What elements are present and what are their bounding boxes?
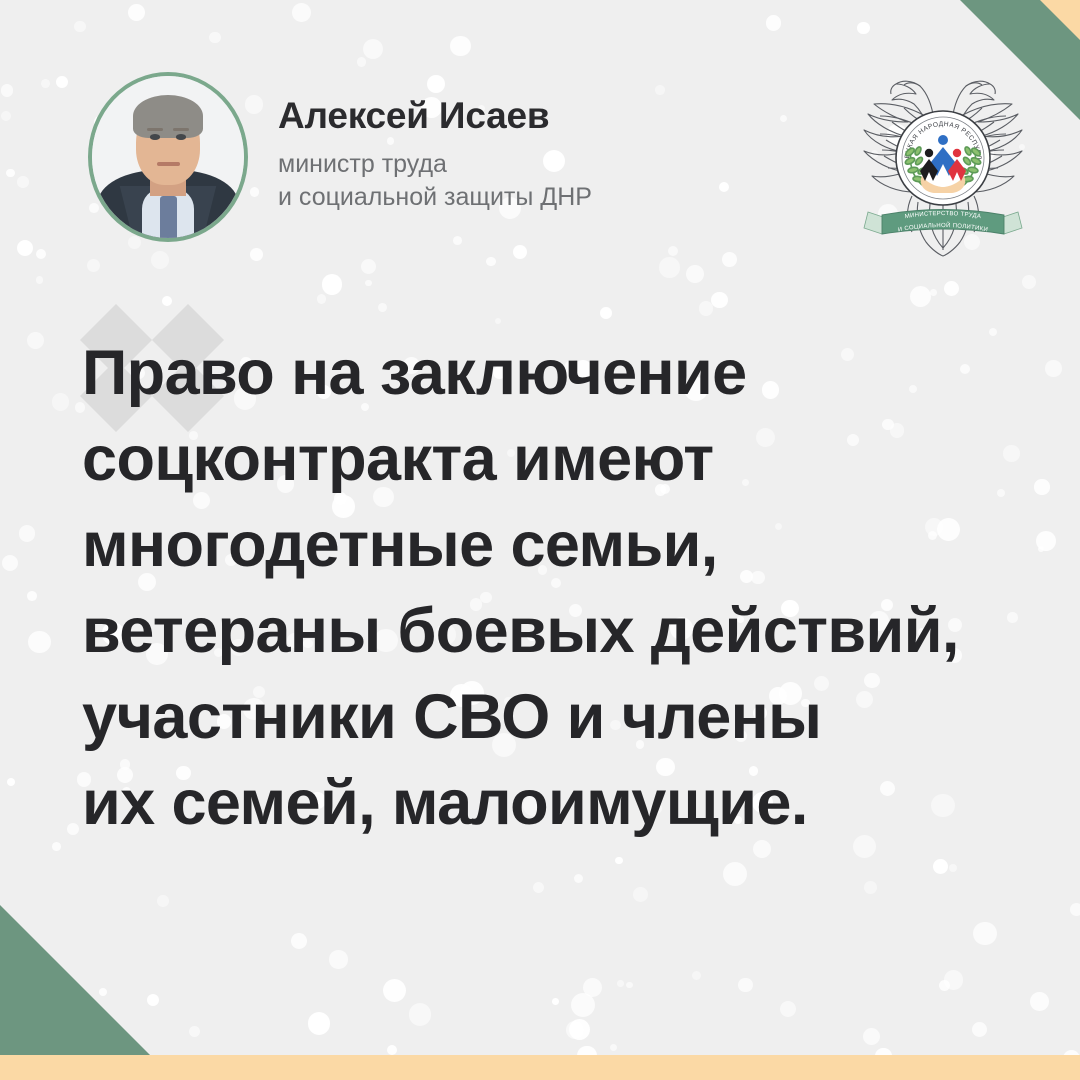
texture-dot — [291, 933, 307, 949]
texture-dot — [87, 259, 100, 272]
texture-dot — [711, 292, 728, 309]
quote-line: участники СВО и члены — [82, 674, 1032, 760]
texture-dot — [738, 978, 752, 992]
texture-dot — [566, 1021, 584, 1039]
texture-dot — [910, 286, 931, 307]
texture-dot — [409, 1003, 432, 1026]
texture-dot — [387, 1045, 397, 1055]
texture-dot — [27, 591, 37, 601]
texture-dot — [939, 980, 950, 991]
texture-dot — [864, 881, 877, 894]
speaker-name: Алексей Исаев — [278, 97, 592, 134]
texture-dot — [780, 115, 788, 123]
texture-dot — [949, 864, 957, 872]
quote-line: многодетные семьи, — [82, 502, 1032, 588]
texture-dot — [1, 111, 11, 121]
texture-dot — [617, 980, 624, 987]
texture-dot — [322, 274, 342, 294]
texture-dot — [209, 32, 221, 44]
texture-dot — [615, 857, 622, 864]
texture-dot — [973, 922, 996, 945]
texture-dot — [189, 1026, 200, 1037]
texture-dot — [361, 259, 376, 274]
texture-dot — [6, 169, 15, 178]
texture-dot — [722, 252, 737, 267]
texture-dot — [41, 79, 50, 88]
texture-dot — [719, 182, 729, 192]
texture-dot — [659, 257, 679, 277]
quote-text-block: Право на заключение соцконтракта имеют м… — [82, 330, 1032, 846]
texture-dot — [633, 887, 648, 902]
texture-dot — [1022, 275, 1036, 289]
texture-dot — [686, 265, 704, 283]
texture-dot — [1030, 992, 1049, 1011]
texture-dot — [357, 57, 366, 66]
texture-dot — [692, 971, 701, 980]
texture-dot — [317, 294, 327, 304]
texture-dot — [600, 307, 612, 319]
texture-dot — [36, 249, 46, 259]
texture-dot — [533, 882, 545, 894]
texture-dot — [766, 15, 782, 31]
speaker-role-line-1: министр труда — [278, 148, 592, 181]
texture-dot — [52, 842, 61, 851]
texture-dot — [363, 39, 383, 59]
texture-dot — [67, 823, 79, 835]
texture-dot — [151, 251, 169, 269]
texture-dot — [1045, 360, 1062, 377]
quote-line: их семей, малоимущие. — [82, 760, 1032, 846]
texture-dot — [1034, 479, 1049, 494]
texture-dot — [1, 84, 13, 96]
texture-dot — [383, 979, 406, 1002]
texture-dot — [857, 22, 870, 35]
bottom-band-peach — [0, 1055, 1080, 1080]
texture-dot — [56, 76, 68, 88]
texture-dot — [780, 1001, 796, 1017]
texture-dot — [574, 874, 583, 883]
texture-dot — [1070, 903, 1080, 916]
texture-dot — [626, 982, 633, 989]
texture-dot — [1038, 546, 1044, 552]
texture-dot — [28, 631, 50, 653]
texture-dot — [378, 303, 387, 312]
texture-dot — [250, 248, 263, 261]
texture-dot — [1036, 531, 1056, 551]
quote-line: ветераны боевых действий, — [82, 588, 1032, 674]
texture-dot — [552, 998, 559, 1005]
quote-line: соцконтракта имеют — [82, 416, 1032, 502]
texture-dot — [944, 281, 959, 296]
texture-dot — [610, 1044, 617, 1051]
texture-dot — [583, 978, 602, 997]
quote-card: Алексей Исаев министр труда и социальной… — [0, 0, 1080, 1080]
speaker-header: Алексей Исаев министр труда и социальной… — [88, 72, 592, 242]
texture-dot — [495, 318, 501, 324]
texture-dot — [569, 1019, 590, 1040]
speaker-role-line-2: и социальной защиты ДНР — [278, 181, 592, 214]
texture-dot — [292, 3, 311, 22]
corner-triangle-bottom-left-green — [0, 905, 150, 1055]
texture-dot — [365, 280, 372, 287]
texture-dot — [571, 993, 595, 1017]
texture-dot — [27, 332, 44, 349]
texture-dot — [933, 859, 948, 874]
texture-dot — [699, 301, 713, 315]
texture-dot — [17, 176, 29, 188]
texture-dot — [308, 1012, 331, 1035]
texture-dot — [128, 4, 145, 21]
texture-dot — [36, 276, 44, 284]
texture-dot — [7, 778, 15, 786]
texture-dot — [930, 289, 937, 296]
corner-triangle-top-right-peach — [1040, 0, 1080, 40]
texture-dot — [944, 970, 964, 990]
dnr-double-headed-eagle-emblem: ДОНЕЦКАЯ НАРОДНАЯ РЕСПУБЛИКА — [834, 52, 1052, 262]
texture-dot — [450, 36, 471, 57]
texture-dot — [655, 85, 664, 94]
texture-dot — [2, 555, 18, 571]
texture-dot — [157, 895, 169, 907]
texture-dot — [329, 950, 347, 968]
texture-dot — [723, 862, 747, 886]
texture-dot — [863, 1028, 880, 1045]
speaker-text-block: Алексей Исаев министр труда и социальной… — [278, 97, 592, 218]
texture-dot — [668, 246, 678, 256]
texture-dot — [513, 245, 527, 259]
quote-line: Право на заключение — [82, 330, 1032, 416]
texture-dot — [19, 525, 35, 541]
texture-dot — [74, 21, 85, 32]
texture-dot — [486, 257, 496, 267]
texture-dot — [17, 240, 34, 257]
avatar — [88, 72, 248, 242]
texture-dot — [972, 1022, 987, 1037]
